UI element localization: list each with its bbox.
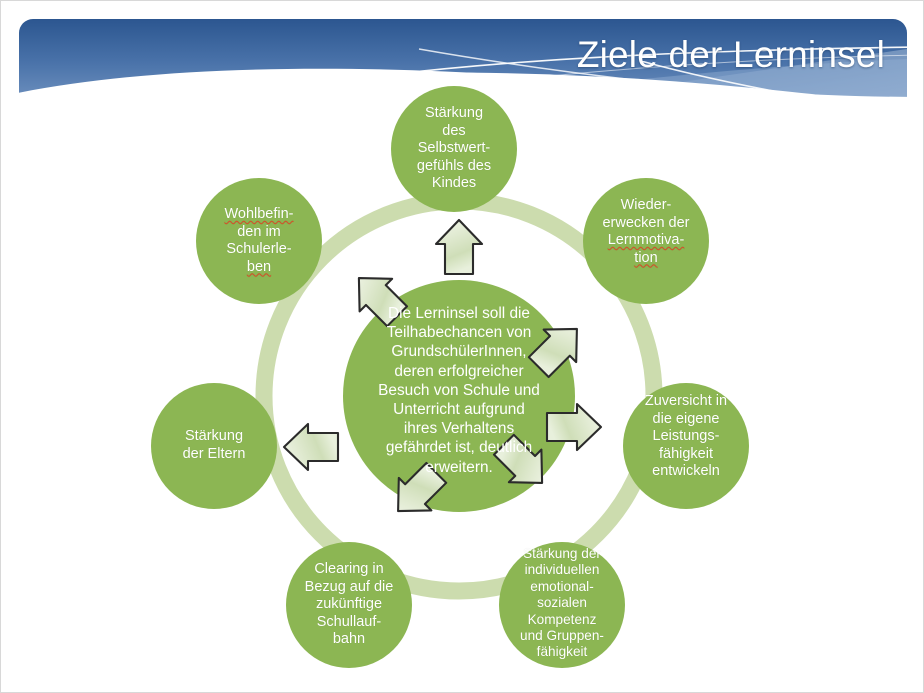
radial-cycle-diagram: Die Lerninsel soll die Teilhabechancen v… xyxy=(1,1,924,693)
node-circle-wohlbefinden[interactable] xyxy=(196,178,322,304)
arrow-to-selbstwert xyxy=(436,220,482,274)
node-circle-kompetenz[interactable] xyxy=(499,542,625,668)
arrow-to-eltern xyxy=(284,424,338,470)
node-circle-clearing[interactable] xyxy=(286,542,412,668)
node-circle-lernmotivation[interactable] xyxy=(583,178,709,304)
node-circle-eltern[interactable] xyxy=(151,383,277,509)
node-circle-zuversicht[interactable] xyxy=(623,383,749,509)
node-circle-selbstwert[interactable] xyxy=(391,86,517,212)
diagram-graphic xyxy=(1,1,924,693)
slide-canvas: Ziele der Lerninsel xyxy=(0,0,924,693)
